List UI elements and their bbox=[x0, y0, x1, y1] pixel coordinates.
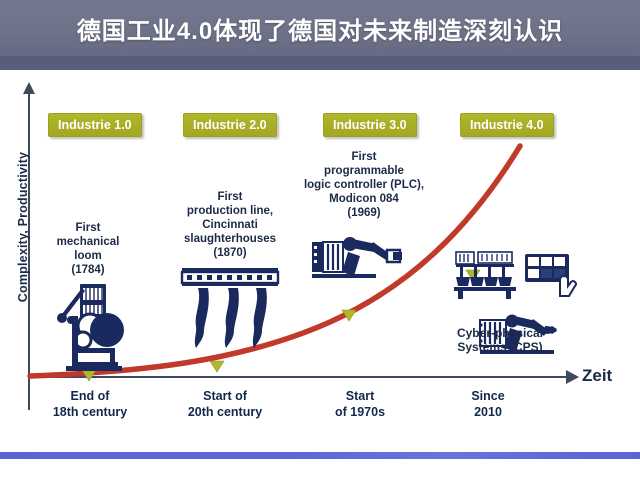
caption-line: programmable bbox=[288, 164, 440, 178]
caption-line: slaughterhouses bbox=[160, 232, 300, 246]
caption-line: Systems (CPS) bbox=[420, 340, 580, 354]
caption-line: First bbox=[288, 150, 440, 164]
x-tick-label-2: Start of 20th century bbox=[155, 388, 295, 420]
stage-badge-industrie-4[interactable]: Industrie 4.0 bbox=[460, 113, 554, 137]
caption-line: (1969) bbox=[288, 206, 440, 220]
x-tick-label-1: End of 18th century bbox=[20, 388, 160, 420]
stage-badge-industrie-1[interactable]: Industrie 1.0 bbox=[48, 113, 142, 137]
slaughterhouse-conveyor-icon bbox=[180, 266, 280, 352]
x-tick-label-3: Start of 1970s bbox=[300, 388, 420, 420]
x-axis-label: Zeit bbox=[582, 366, 612, 386]
x-tick-line: Since bbox=[428, 388, 548, 404]
slide-canvas: 德国工业4.0体现了德国对未来制造深刻认识 Complexity, Produc… bbox=[0, 0, 640, 480]
x-axis-line bbox=[28, 376, 568, 378]
title-bar-underline bbox=[0, 56, 640, 70]
stage-caption-industrie-4: Cyber-physical Systems (CPS) bbox=[420, 326, 580, 354]
x-tick-line: of 1970s bbox=[300, 404, 420, 420]
stage-caption-industrie-3: First programmable logic controller (PLC… bbox=[288, 150, 440, 220]
y-axis-label: Complexity, Productivity bbox=[16, 142, 30, 312]
tablet-touch-icon bbox=[524, 250, 586, 302]
caption-line: mechanical bbox=[40, 235, 136, 249]
watermark-text bbox=[430, 448, 635, 462]
mechanical-loom-icon bbox=[52, 282, 132, 374]
caption-line: Cyber-physical bbox=[420, 326, 580, 340]
production-line-icon bbox=[452, 250, 520, 302]
robot-arm-plc-icon bbox=[310, 228, 406, 290]
stage-caption-industrie-2: First production line, Cincinnati slaugh… bbox=[160, 190, 300, 260]
title-bar: 德国工业4.0体现了德国对未来制造深刻认识 bbox=[0, 0, 640, 56]
caption-line: loom bbox=[40, 249, 136, 263]
x-tick-line: 18th century bbox=[20, 404, 160, 420]
caption-line: (1870) bbox=[160, 246, 300, 260]
x-tick-line: 20th century bbox=[155, 404, 295, 420]
x-tick-line: 2010 bbox=[428, 404, 548, 420]
caption-line: First bbox=[40, 221, 136, 235]
stage-badge-industrie-3[interactable]: Industrie 3.0 bbox=[323, 113, 417, 137]
x-axis-arrow-icon bbox=[566, 370, 579, 384]
x-tick-line: Start bbox=[300, 388, 420, 404]
stage-badge-industrie-2[interactable]: Industrie 2.0 bbox=[183, 113, 277, 137]
x-tick-line: End of bbox=[20, 388, 160, 404]
x-tick-line: Start of bbox=[155, 388, 295, 404]
caption-line: production line, bbox=[160, 204, 300, 218]
stage-caption-industrie-1: First mechanical loom (1784) bbox=[40, 221, 136, 277]
caption-line: Modicon 084 bbox=[288, 192, 440, 206]
caption-line: Cincinnati bbox=[160, 218, 300, 232]
caption-line: First bbox=[160, 190, 300, 204]
caption-line: logic controller (PLC), bbox=[288, 178, 440, 192]
chart-area: Complexity, Productivity Zeit Industrie … bbox=[0, 70, 640, 470]
page-title: 德国工业4.0体现了德国对未来制造深刻认识 bbox=[0, 0, 640, 56]
x-tick-label-4: Since 2010 bbox=[428, 388, 548, 420]
caption-line: (1784) bbox=[40, 263, 136, 277]
